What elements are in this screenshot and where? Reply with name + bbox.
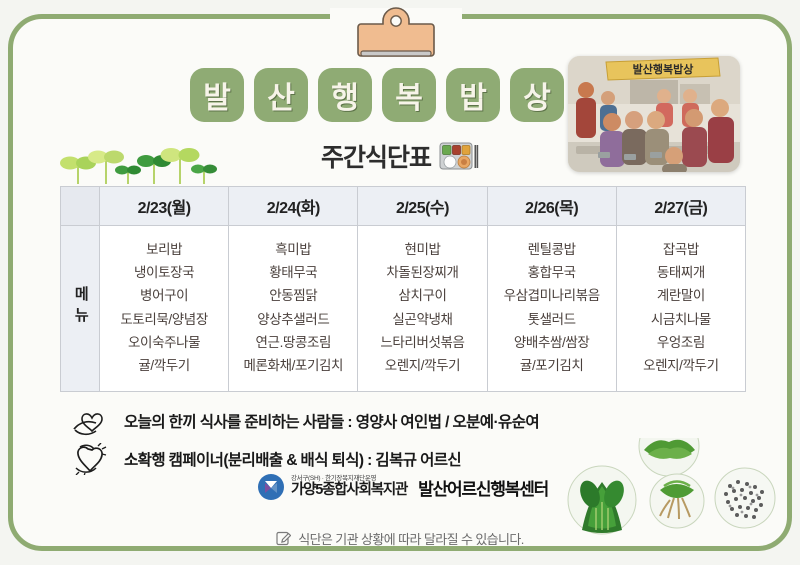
menu-item: 흑미밥 [231, 238, 355, 261]
binder-clip-icon [350, 6, 442, 60]
title-tile-1: 산 [254, 68, 308, 122]
row-label-menu-text: 메뉴 [66, 286, 95, 328]
table-header-row: 2/23(월) 2/24(화) 2/25(수) 2/26(목) 2/27(금) [61, 187, 746, 226]
menu-item: 동태찌개 [619, 261, 743, 284]
menu-item: 삼치구이 [360, 284, 484, 307]
sprout-decoration-icon [58, 128, 218, 184]
menu-item: 귤/포기김치 [490, 354, 614, 377]
menu-cell-tue: 흑미밥 황태무국 안동찜닭 양상추샐러드 연근.땅콩조림 메론화채/포기김치 [229, 226, 358, 392]
table-header-mon: 2/23(월) [100, 187, 229, 226]
hand-heart-icon [72, 405, 114, 437]
menu-item: 시금치나물 [619, 308, 743, 331]
title-tile-2: 행 [318, 68, 372, 122]
menu-item: 느타리버섯볶음 [360, 331, 484, 354]
menu-item: 계란말이 [619, 284, 743, 307]
menu-item: 실곤약냉채 [360, 308, 484, 331]
disclaimer-row: 식단은 기관 상황에 따라 달라질 수 있습니다. [0, 529, 800, 548]
dining-illustration-photo: 발산행복밥상 [568, 56, 740, 172]
menu-cell-wed: 현미밥 차돌된장찌개 삼치구이 실곤약냉채 느타리버섯볶음 오렌지/깍두기 [358, 226, 487, 392]
menu-item: 차돌된장찌개 [360, 261, 484, 284]
poster-canvas: 발 산 행 복 밥 상 주간식단표 [0, 0, 800, 565]
table-header-wed: 2/25(수) [358, 187, 487, 226]
menu-item: 양상추샐러드 [231, 308, 355, 331]
heart-hands-icon [72, 443, 114, 475]
menu-item: 홍합무국 [490, 261, 614, 284]
menu-item: 오렌지/깍두기 [360, 354, 484, 377]
org-name-block: 강서구(SH) · 한기장복지재단운영 가양5종합사회복지관 [291, 476, 407, 498]
menu-item: 메론화채/포기김치 [231, 354, 355, 377]
menu-item: 우삼겹미나리볶음 [490, 284, 614, 307]
menu-item: 보리밥 [102, 238, 226, 261]
meal-tray-icon [439, 141, 479, 171]
menu-item: 병어구이 [102, 284, 226, 307]
note-staff-text: 오늘의 한끼 식사를 준비하는 사람들 : 영양사 여인법 / 오분예·유순여 [124, 410, 539, 432]
menu-cell-mon: 보리밥 냉이토장국 병어구이 도토리묵/양념장 오이숙주나물 귤/깍두기 [100, 226, 229, 392]
table-header-thu: 2/26(목) [487, 187, 616, 226]
menu-cell-fri: 잡곡밥 동태찌개 계란말이 시금치나물 우엉조림 오렌지/깍두기 [616, 226, 745, 392]
title-tile-4: 밥 [446, 68, 500, 122]
menu-item: 오렌지/깍두기 [619, 354, 743, 377]
center-name-text: 발산어르신행복센터 [418, 475, 548, 500]
menu-item: 황태무국 [231, 261, 355, 284]
menu-item: 안동찜닭 [231, 284, 355, 307]
organization-footer: 강서구(SH) · 한기장복지재단운영 가양5종합사회복지관 발산어르신행복센터 [258, 474, 548, 500]
table-header-fri: 2/27(금) [616, 187, 745, 226]
table-header-tue: 2/24(화) [229, 187, 358, 226]
menu-item: 현미밥 [360, 238, 484, 261]
weekly-menu-table: 2/23(월) 2/24(화) 2/25(수) 2/26(목) 2/27(금) … [60, 186, 746, 392]
menu-item: 우엉조림 [619, 331, 743, 354]
disclaimer-text: 식단은 기관 상황에 따라 달라질 수 있습니다. [298, 529, 524, 548]
gayang5-logo-icon [258, 474, 284, 500]
title-tile-0: 발 [190, 68, 244, 122]
subtitle-text: 주간식단표 [321, 138, 431, 174]
svg-text:발산행복밥상: 발산행복밥상 [633, 62, 694, 76]
title-tile-3: 복 [382, 68, 436, 122]
menu-item: 도토리묵/양념장 [102, 308, 226, 331]
menu-item: 렌틸콩밥 [490, 238, 614, 261]
menu-cell-thu: 렌틸콩밥 홍합무국 우삼겹미나리볶음 톳샐러드 양배추쌈/쌈장 귤/포기김치 [487, 226, 616, 392]
menu-item: 귤/깍두기 [102, 354, 226, 377]
note-campaigner: 소확행 캠페이너(분리배출 & 배식 퇴식) : 김복규 어르신 [72, 443, 461, 475]
subtitle-row: 주간식단표 [250, 138, 550, 174]
table-row: 메뉴 보리밥 냉이토장국 병어구이 도토리묵/양념장 오이숙주나물 귤/깍두기 … [61, 226, 746, 392]
menu-item: 연근.땅콩조림 [231, 331, 355, 354]
menu-item: 양배추쌈/쌈장 [490, 331, 614, 354]
memo-pencil-icon [276, 531, 291, 546]
menu-item: 톳샐러드 [490, 308, 614, 331]
note-campaigner-text: 소확행 캠페이너(분리배출 & 배식 퇴식) : 김복규 어르신 [124, 448, 461, 470]
menu-item: 잡곡밥 [619, 238, 743, 261]
note-staff: 오늘의 한끼 식사를 준비하는 사람들 : 영양사 여인법 / 오분예·유순여 [72, 405, 539, 437]
org-main-line: 가양5종합사회복지관 [291, 483, 407, 498]
menu-item: 오이숙주나물 [102, 331, 226, 354]
table-corner-cell [61, 187, 100, 226]
poster-title: 발 산 행 복 밥 상 [190, 68, 564, 122]
menu-item: 냉이토장국 [102, 261, 226, 284]
row-label-menu: 메뉴 [61, 226, 100, 392]
title-tile-5: 상 [510, 68, 564, 122]
